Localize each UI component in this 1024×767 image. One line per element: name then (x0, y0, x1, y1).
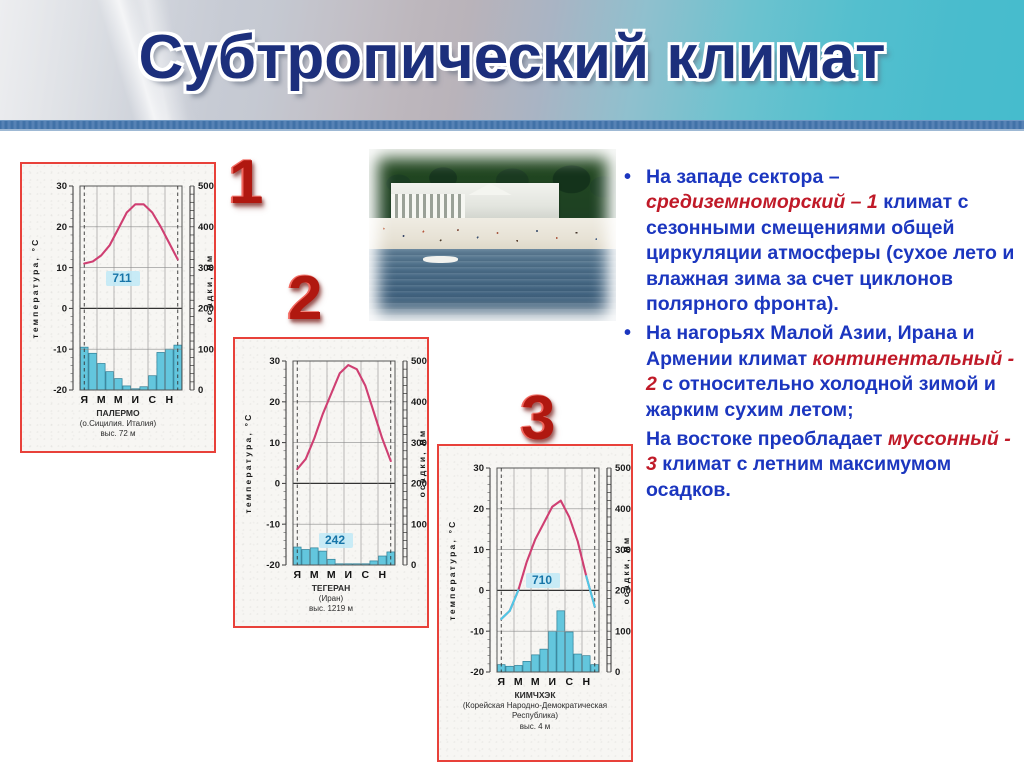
svg-text:-20: -20 (53, 385, 67, 396)
bullet-text: На нагорьях Малой Азии, Ирана и Армении … (646, 321, 1020, 423)
photo-vignette (369, 149, 616, 321)
svg-text:Н: Н (378, 569, 386, 581)
svg-text:И: И (548, 676, 556, 688)
annual-precip-label: 242 (325, 533, 345, 547)
station-name: ПАЛЕРМО (22, 408, 214, 419)
climograph-tehran: 3020100-10-205004003002001000ЯММИСНтемпе… (233, 337, 429, 628)
svg-text:Я: Я (80, 394, 88, 406)
station-region: (Иран) (235, 594, 427, 605)
svg-text:100: 100 (198, 344, 214, 355)
bullet-item: •На нагорьях Малой Азии, Ирана и Армении… (624, 321, 1020, 423)
svg-text:-10: -10 (53, 344, 67, 355)
climograph-palermo: 3020100-10-205004003002001000ЯММИСНтемпе… (20, 162, 216, 453)
description-panel: •На западе сектора – средиземноморский –… (624, 165, 1020, 507)
svg-text:-10: -10 (470, 626, 484, 637)
svg-text:20: 20 (269, 397, 280, 408)
bullet-text: На востоке преобладает муссонный - 3 кли… (646, 427, 1020, 503)
highlighted-term: средиземноморский – 1 (646, 191, 878, 213)
svg-text:М: М (327, 569, 336, 581)
svg-text:осадки, мм: осадки, мм (417, 429, 427, 498)
svg-text:400: 400 (198, 222, 214, 233)
svg-text:10: 10 (473, 545, 484, 556)
bullet-dot-icon: • (624, 321, 646, 346)
slide-header: Субтропический климат (0, 0, 1024, 131)
climograph-palermo-caption: ПАЛЕРМО (о.Сицилия. Италия) выс. 72 м (22, 408, 214, 440)
bullet-item: На востоке преобладает муссонный - 3 кли… (624, 427, 1020, 503)
svg-text:0: 0 (479, 586, 484, 597)
marker-number-3: 3 (520, 388, 554, 450)
station-name: ТЕГЕРАН (235, 583, 427, 594)
svg-text:-20: -20 (266, 560, 280, 571)
page-title: Субтропический климат (0, 16, 1024, 100)
svg-text:0: 0 (198, 385, 203, 396)
svg-text:температура, °C: температура, °C (30, 237, 40, 338)
svg-text:10: 10 (269, 438, 280, 449)
svg-text:30: 30 (473, 463, 484, 474)
svg-text:Я: Я (497, 676, 505, 688)
bullet-item: •На западе сектора – средиземноморский –… (624, 165, 1020, 317)
svg-text:С: С (361, 569, 369, 581)
svg-text:С: С (565, 676, 573, 688)
body-text: климат с летним максимумом осадков. (646, 453, 951, 500)
svg-text:30: 30 (56, 181, 67, 192)
svg-text:100: 100 (615, 626, 631, 637)
svg-text:-10: -10 (266, 519, 280, 530)
station-region: (о.Сицилия. Италия) (22, 419, 214, 430)
svg-text:осадки, мм: осадки, мм (204, 254, 214, 323)
body-text: с относительно холодной зимой и жарким с… (646, 373, 996, 420)
svg-text:-20: -20 (470, 667, 484, 678)
svg-text:М: М (310, 569, 319, 581)
svg-text:500: 500 (198, 181, 214, 192)
svg-text:500: 500 (411, 356, 427, 367)
svg-text:М: М (97, 394, 106, 406)
svg-text:0: 0 (411, 560, 416, 571)
annual-precip-label: 710 (532, 573, 552, 587)
svg-text:М: М (114, 394, 123, 406)
annual-precip-label: 711 (112, 271, 132, 285)
svg-text:температура, °C: температура, °C (447, 519, 457, 620)
marker-number-1: 1 (228, 152, 262, 214)
mediterranean-beach-photo (369, 149, 616, 321)
svg-text:20: 20 (56, 222, 67, 233)
station-name: КИМЧХЭК (439, 690, 631, 701)
svg-text:С: С (148, 394, 156, 406)
svg-text:0: 0 (62, 304, 67, 315)
svg-text:Н: Н (165, 394, 173, 406)
svg-text:М: М (514, 676, 523, 688)
header-divider-edge (0, 129, 1024, 131)
station-elevation: выс. 72 м (22, 429, 214, 440)
station-elevation: выс. 4 м (439, 722, 631, 733)
climograph-kimchaek-caption: КИМЧХЭК (Корейская Народно-Демократическ… (439, 690, 631, 732)
svg-text:10: 10 (56, 263, 67, 274)
svg-text:И: И (131, 394, 139, 406)
climograph-tehran-caption: ТЕГЕРАН (Иран) выс. 1219 м (235, 583, 427, 615)
svg-text:И: И (344, 569, 352, 581)
climograph-kimchaek: 3020100-10-205004003002001000ЯММИСНтемпе… (437, 444, 633, 762)
bullet-text: На западе сектора – средиземноморский – … (646, 165, 1020, 317)
svg-text:0: 0 (275, 479, 280, 490)
bullet-dot-icon: • (624, 165, 646, 190)
svg-text:100: 100 (411, 519, 427, 530)
marker-number-2: 2 (287, 268, 321, 330)
svg-text:осадки, мм: осадки, мм (621, 536, 631, 605)
station-elevation: выс. 1219 м (235, 604, 427, 615)
body-text: На востоке преобладает (646, 428, 888, 450)
svg-text:0: 0 (615, 667, 620, 678)
svg-text:400: 400 (411, 397, 427, 408)
svg-text:20: 20 (473, 504, 484, 515)
station-region: (Корейская Народно-Демократическая Респу… (439, 701, 631, 722)
svg-text:Я: Я (293, 569, 301, 581)
svg-text:Н: Н (582, 676, 590, 688)
svg-text:30: 30 (269, 356, 280, 367)
svg-text:температура, °C: температура, °C (243, 412, 253, 513)
body-text: На западе сектора – (646, 166, 840, 188)
svg-text:М: М (531, 676, 540, 688)
